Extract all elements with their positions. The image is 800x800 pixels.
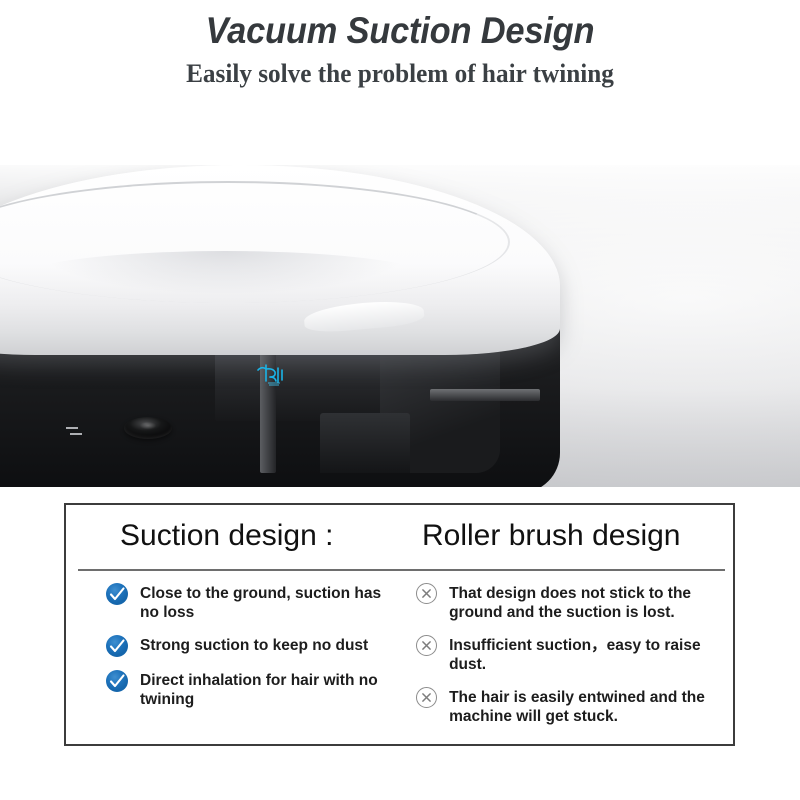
page-subtitle: Easily solve the problem of hair twining (12, 54, 788, 94)
fan-glow (0, 479, 172, 487)
x-glyph (417, 688, 436, 707)
x-glyph (417, 636, 436, 655)
header-divider (78, 569, 725, 571)
check-glyph (106, 670, 128, 692)
list-item: Direct inhalation for hair with no twini… (106, 670, 404, 709)
check-circle-icon (106, 670, 128, 692)
brand-script-logo (252, 361, 292, 391)
product-photo (0, 165, 800, 487)
list-item: Strong suction to keep no dust (106, 635, 404, 657)
list-item-label: Direct inhalation for hair with no twini… (128, 670, 404, 709)
column-header-suction-design: Suction design : (66, 519, 396, 553)
check-circle-icon (106, 635, 128, 657)
comparison-table: Suction design : Roller brush design Clo… (64, 503, 735, 746)
page-title: Vacuum Suction Design (28, 8, 772, 54)
list-item: That design does not stick to the ground… (416, 583, 733, 622)
page-header: Vacuum Suction Design Easily solve the p… (0, 0, 800, 94)
column-roller-brush-design: That design does not stick to the ground… (404, 583, 733, 739)
comparison-body: Close to the ground, suction has no loss… (66, 567, 733, 739)
vacuum-sensor-marks (66, 423, 96, 439)
list-item-label: The hair is easily entwined and the mach… (437, 687, 733, 726)
brand-logo-glyph (252, 361, 292, 391)
comparison-header-row: Suction design : Roller brush design (66, 505, 733, 567)
x-glyph (417, 584, 436, 603)
column-header-roller-brush-design: Roller brush design (396, 519, 680, 553)
x-circle-icon (416, 583, 437, 604)
list-item: Insufficient suction，easy to raise dust. (416, 635, 733, 674)
cutaway-part (320, 413, 410, 473)
list-item-label: Insufficient suction，easy to raise dust. (437, 635, 733, 674)
cutaway-part (430, 389, 540, 401)
list-item-label: That design does not stick to the ground… (437, 583, 733, 622)
check-circle-icon (106, 583, 128, 605)
list-item: Close to the ground, suction has no loss (106, 583, 404, 622)
column-suction-design: Close to the ground, suction has no loss… (66, 583, 404, 739)
list-item-label: Strong suction to keep no dust (128, 635, 368, 655)
list-item-label: Close to the ground, suction has no loss (128, 583, 404, 622)
list-item: The hair is easily entwined and the mach… (416, 687, 733, 726)
x-circle-icon (416, 687, 437, 708)
x-circle-icon (416, 635, 437, 656)
power-button-icon (124, 417, 172, 439)
check-glyph (106, 583, 128, 605)
check-glyph (106, 635, 128, 657)
